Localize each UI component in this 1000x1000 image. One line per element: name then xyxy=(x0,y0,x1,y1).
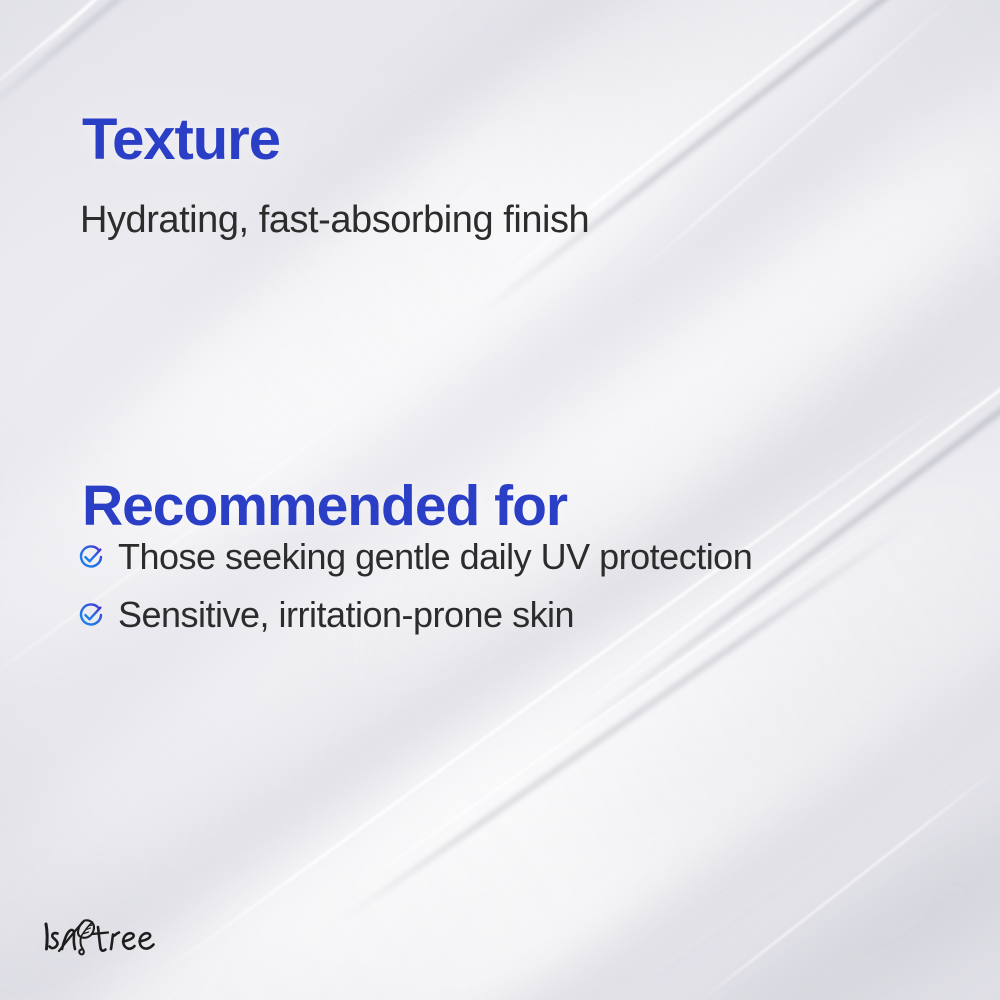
list-item: Sensitive, irritation-prone skin xyxy=(78,586,752,644)
content-layer: Texture Hydrating, fast-absorbing finish… xyxy=(0,0,1000,1000)
list-item: Those seeking gentle daily UV protection xyxy=(78,528,752,586)
list-item-label: Sensitive, irritation-prone skin xyxy=(118,597,574,633)
texture-heading: Texture xyxy=(82,111,280,169)
check-circle-icon xyxy=(78,602,104,628)
check-circle-icon xyxy=(78,544,104,570)
recommended-for-heading: Recommended for xyxy=(82,478,567,535)
recommended-for-list: Those seeking gentle daily UV protection… xyxy=(78,528,752,644)
texture-description: Hydrating, fast-absorbing finish xyxy=(80,198,589,244)
list-item-label: Those seeking gentle daily UV protection xyxy=(118,539,752,575)
brand-logo xyxy=(40,908,190,964)
product-detail-graphic: Texture Hydrating, fast-absorbing finish… xyxy=(0,0,1000,1000)
